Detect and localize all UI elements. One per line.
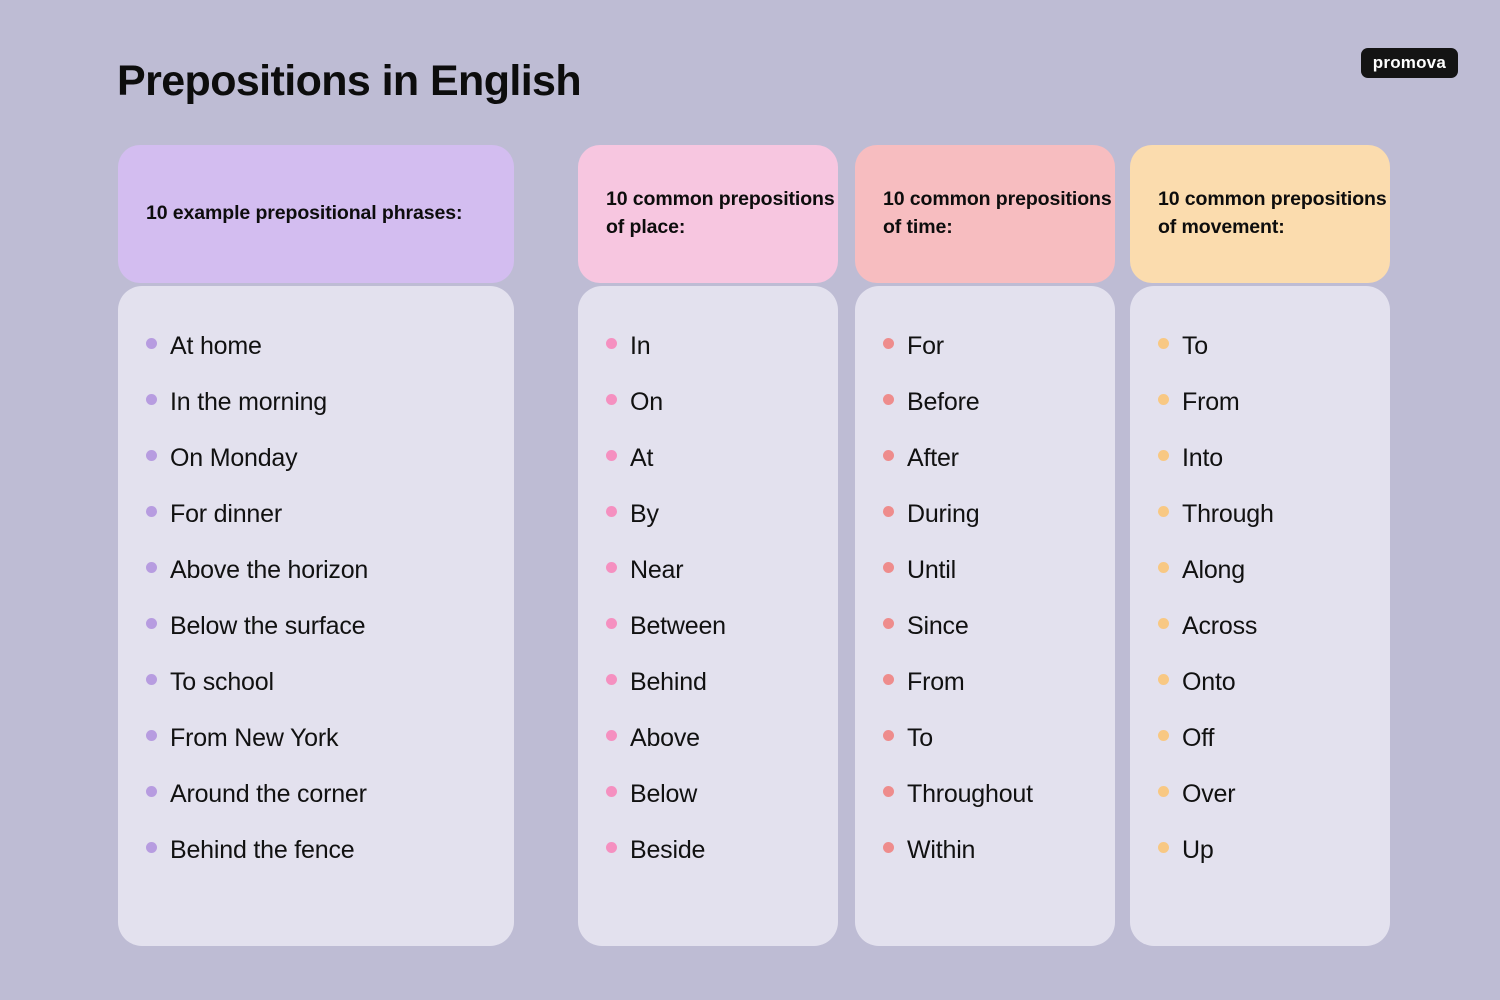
bullet-dot-icon [1158, 618, 1169, 629]
list-item-label: To [1182, 334, 1208, 359]
list-item-label: Until [907, 558, 956, 583]
bullet-dot-icon [883, 450, 894, 461]
list-item-label: Between [630, 614, 726, 639]
bullet-dot-icon [146, 338, 157, 349]
list-item: Onto [1158, 670, 1370, 726]
bullet-dot-icon [883, 338, 894, 349]
bullet-dot-icon [606, 730, 617, 741]
bullet-dot-icon [1158, 394, 1169, 405]
list-item: Beside [606, 838, 818, 894]
bullet-dot-icon [883, 674, 894, 685]
bullet-dot-icon [146, 450, 157, 461]
list-item: Below the surface [146, 614, 494, 670]
column-header-prepositions-of-time: 10 common prepositions of time: [855, 145, 1115, 283]
infographic-page: Prepositions in English promova 10 examp… [0, 0, 1500, 1000]
list-item: After [883, 446, 1095, 502]
bullet-dot-icon [1158, 842, 1169, 853]
list-item-label: Throughout [907, 782, 1033, 807]
list-item-label: In the morning [170, 390, 327, 415]
list-item-label: Into [1182, 446, 1223, 471]
list-item: Up [1158, 838, 1370, 894]
list-item-label: From [907, 670, 965, 695]
column-list-prepositions-of-place: InOnAtByNearBetweenBehindAboveBelowBesid… [578, 286, 838, 946]
list-item-label: Through [1182, 502, 1274, 527]
bullet-dot-icon [606, 450, 617, 461]
list-item-label: Over [1182, 782, 1235, 807]
bullet-dot-icon [1158, 338, 1169, 349]
bullet-dot-icon [883, 506, 894, 517]
list-item: For [883, 334, 1095, 390]
list-item-label: Beside [630, 838, 705, 863]
column-list-prepositions-of-movement: ToFromIntoThroughAlongAcrossOntoOffOverU… [1130, 286, 1390, 946]
list-item-label: Since [907, 614, 969, 639]
list-item: For dinner [146, 502, 494, 558]
list-item: Behind the fence [146, 838, 494, 894]
column-header-prepositions-of-place: 10 common prepositions of place: [578, 145, 838, 283]
list-item-label: Behind [630, 670, 707, 695]
list-item-label: Within [907, 838, 975, 863]
list-item: On [606, 390, 818, 446]
list-item-label: For dinner [170, 502, 282, 527]
list-item-label: Onto [1182, 670, 1235, 695]
page-title: Prepositions in English [117, 57, 581, 106]
bullet-dot-icon [146, 506, 157, 517]
columns-container: 10 example prepositional phrases:At home… [0, 145, 1500, 945]
list-item: From [883, 670, 1095, 726]
bullet-dot-icon [883, 730, 894, 741]
list-item-label: By [630, 502, 659, 527]
list-item: Below [606, 782, 818, 838]
bullet-dot-icon [146, 618, 157, 629]
list-item: Near [606, 558, 818, 614]
bullet-dot-icon [606, 562, 617, 573]
list-item-label: From New York [170, 726, 338, 751]
list-item: Above [606, 726, 818, 782]
list-item-label: Below [630, 782, 697, 807]
list-item: In [606, 334, 818, 390]
column-list-prepositions-of-time: ForBeforeAfterDuringUntilSinceFromToThro… [855, 286, 1115, 946]
bullet-dot-icon [606, 674, 617, 685]
column-prepositions-of-movement: 10 common prepositions of movement:ToFro… [1130, 145, 1390, 946]
bullet-dot-icon [1158, 786, 1169, 797]
list-item: Into [1158, 446, 1370, 502]
list-item-label: For [907, 334, 944, 359]
bullet-dot-icon [883, 618, 894, 629]
bullet-dot-icon [883, 562, 894, 573]
bullet-dot-icon [146, 394, 157, 405]
list-item-label: Near [630, 558, 683, 583]
list-item: Around the corner [146, 782, 494, 838]
bullet-dot-icon [1158, 506, 1169, 517]
list-item-label: Around the corner [170, 782, 367, 807]
list-item-label: During [907, 502, 979, 527]
list-item-label: Up [1182, 838, 1214, 863]
list-item-label: Below the surface [170, 614, 365, 639]
list-item: Since [883, 614, 1095, 670]
list-item: To school [146, 670, 494, 726]
list-item: During [883, 502, 1095, 558]
bullet-dot-icon [146, 842, 157, 853]
bullet-dot-icon [606, 618, 617, 629]
list-item-label: Above the horizon [170, 558, 368, 583]
column-prepositions-of-place: 10 common prepositions of place:InOnAtBy… [578, 145, 838, 946]
bullet-dot-icon [146, 562, 157, 573]
list-item: In the morning [146, 390, 494, 446]
list-item-label: On Monday [170, 446, 297, 471]
list-item: Over [1158, 782, 1370, 838]
list-item: At [606, 446, 818, 502]
list-item: Across [1158, 614, 1370, 670]
bullet-dot-icon [1158, 674, 1169, 685]
list-item: On Monday [146, 446, 494, 502]
list-item-label: To school [170, 670, 274, 695]
bullet-dot-icon [146, 786, 157, 797]
list-item: Above the horizon [146, 558, 494, 614]
list-item-label: From [1182, 390, 1240, 415]
list-item-label: At home [170, 334, 262, 359]
bullet-dot-icon [883, 394, 894, 405]
bullet-dot-icon [606, 338, 617, 349]
bullet-dot-icon [606, 842, 617, 853]
list-item-label: On [630, 390, 663, 415]
list-item: By [606, 502, 818, 558]
list-item: Throughout [883, 782, 1095, 838]
bullet-dot-icon [146, 730, 157, 741]
column-header-prepositions-of-movement: 10 common prepositions of movement: [1130, 145, 1390, 283]
list-item-label: Behind the fence [170, 838, 354, 863]
list-item-label: To [907, 726, 933, 751]
list-item: From [1158, 390, 1370, 446]
list-item: To [883, 726, 1095, 782]
list-item-label: Along [1182, 558, 1245, 583]
list-item: Off [1158, 726, 1370, 782]
column-example-phrases: 10 example prepositional phrases:At home… [118, 145, 514, 946]
list-item: Behind [606, 670, 818, 726]
bullet-dot-icon [146, 674, 157, 685]
bullet-dot-icon [883, 786, 894, 797]
list-item-label: Above [630, 726, 700, 751]
list-item-label: Across [1182, 614, 1257, 639]
bullet-dot-icon [1158, 450, 1169, 461]
list-item-label: After [907, 446, 959, 471]
list-item: At home [146, 334, 494, 390]
column-list-example-phrases: At homeIn the morningOn MondayFor dinner… [118, 286, 514, 946]
list-item: From New York [146, 726, 494, 782]
bullet-dot-icon [1158, 730, 1169, 741]
bullet-dot-icon [1158, 562, 1169, 573]
list-item: To [1158, 334, 1370, 390]
list-item-label: In [630, 334, 650, 359]
column-header-example-phrases: 10 example prepositional phrases: [118, 145, 514, 283]
bullet-dot-icon [606, 506, 617, 517]
bullet-dot-icon [883, 842, 894, 853]
list-item: Until [883, 558, 1095, 614]
list-item: Along [1158, 558, 1370, 614]
bullet-dot-icon [606, 786, 617, 797]
list-item: Through [1158, 502, 1370, 558]
column-prepositions-of-time: 10 common prepositions of time:ForBefore… [855, 145, 1115, 946]
list-item: Between [606, 614, 818, 670]
list-item-label: Off [1182, 726, 1214, 751]
bullet-dot-icon [606, 394, 617, 405]
promova-logo: promova [1361, 48, 1458, 78]
list-item: Within [883, 838, 1095, 894]
list-item-label: At [630, 446, 653, 471]
list-item: Before [883, 390, 1095, 446]
list-item-label: Before [907, 390, 979, 415]
